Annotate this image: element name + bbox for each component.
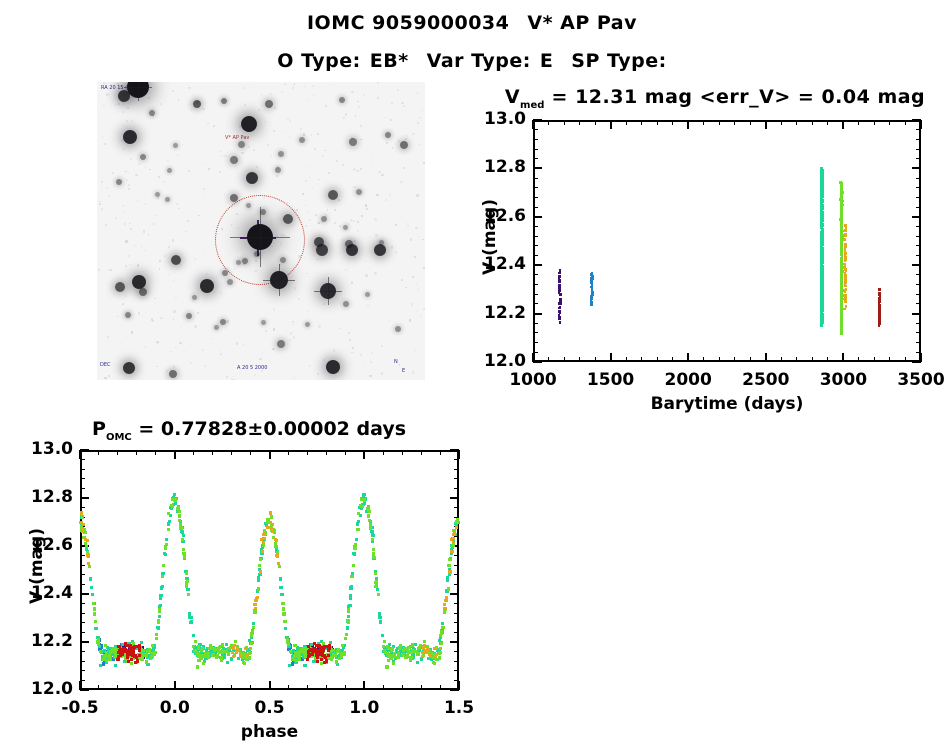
field-star — [241, 116, 257, 132]
field-star — [374, 244, 386, 256]
data-point — [323, 661, 326, 664]
field-noise — [175, 347, 176, 348]
field-star — [346, 244, 358, 256]
data-point — [416, 661, 419, 664]
field-star — [192, 295, 197, 300]
field-noise — [309, 166, 311, 168]
field-noise — [206, 273, 207, 274]
field-noise — [416, 283, 417, 284]
data-point — [591, 272, 594, 275]
data-point — [820, 256, 823, 259]
data-point — [99, 650, 102, 653]
finder-label-north: N — [394, 360, 398, 365]
data-point — [85, 545, 88, 548]
period-value-text: = 0.77828±0.00002 days — [138, 418, 406, 440]
field-noise — [109, 269, 111, 271]
field-noise — [101, 185, 102, 186]
data-point — [433, 647, 436, 650]
data-point — [164, 546, 167, 549]
data-point — [559, 269, 562, 272]
y-tick-major-right — [450, 689, 459, 691]
field-noise — [125, 265, 127, 267]
x-tick-minor — [827, 357, 828, 362]
y-tick-major — [80, 593, 89, 595]
field-noise — [202, 163, 203, 164]
data-point — [367, 514, 370, 517]
data-point — [239, 653, 242, 656]
y-tick-major — [533, 361, 542, 363]
field-star — [115, 282, 125, 292]
data-point — [289, 650, 292, 653]
data-point — [840, 270, 843, 273]
field-noise — [177, 154, 179, 156]
data-point — [283, 620, 286, 623]
field-star — [123, 362, 135, 374]
field-noise — [231, 379, 233, 380]
data-point — [840, 260, 843, 263]
y-tick-minor — [80, 574, 85, 575]
data-point — [443, 603, 446, 606]
x-tick-minor-top — [672, 120, 673, 125]
x-tick-minor — [288, 685, 289, 690]
data-point — [282, 607, 285, 610]
y-axis-title: V (mag) — [480, 199, 500, 275]
field-noise — [117, 316, 119, 318]
field-noise — [318, 222, 320, 224]
field-noise — [192, 300, 195, 303]
field-noise — [389, 194, 391, 196]
data-point — [357, 512, 360, 515]
x-tick-minor-top — [703, 120, 704, 125]
data-point — [844, 245, 847, 248]
field-noise — [127, 107, 129, 109]
field-noise — [347, 223, 350, 226]
field-noise — [157, 197, 159, 199]
data-point — [411, 643, 414, 646]
field-noise — [411, 178, 412, 179]
data-point — [878, 317, 881, 320]
field-noise — [412, 133, 415, 136]
data-point — [821, 273, 824, 276]
field-noise — [370, 361, 372, 363]
field-star — [242, 258, 248, 264]
data-point — [840, 227, 843, 230]
y-tick-major-right — [912, 119, 921, 121]
data-point — [840, 328, 843, 331]
x-tick-major-top — [610, 120, 612, 129]
y-tick-minor-right — [916, 197, 921, 198]
data-point — [336, 650, 339, 653]
data-point — [187, 588, 190, 591]
field-noise — [289, 136, 290, 137]
field-noise — [406, 222, 407, 223]
data-point — [559, 321, 562, 324]
field-noise — [300, 128, 302, 130]
field-star — [149, 110, 155, 116]
x-tick-label: 0.0 — [160, 698, 190, 718]
field-noise — [131, 120, 133, 122]
data-point — [258, 564, 261, 567]
vmed-text: = 12.31 mag <err_V> = 0.04 mag — [552, 86, 926, 108]
data-point — [320, 649, 323, 652]
field-noise — [128, 255, 130, 257]
field-noise — [157, 342, 158, 343]
data-point — [313, 650, 316, 653]
field-noise — [142, 316, 143, 317]
field-noise — [324, 189, 325, 190]
data-point — [590, 300, 593, 303]
data-point — [820, 294, 823, 297]
field-noise — [203, 188, 205, 190]
data-point — [446, 579, 449, 582]
data-point — [207, 652, 210, 655]
field-noise — [170, 351, 172, 353]
data-point — [360, 498, 363, 501]
data-point — [841, 206, 844, 209]
field-star — [132, 275, 146, 289]
field-noise — [286, 331, 287, 332]
field-noise — [236, 342, 238, 344]
var-type-value: E — [540, 50, 553, 72]
data-point — [293, 654, 296, 657]
y-tick-minor — [533, 245, 538, 246]
field-noise — [365, 261, 366, 262]
data-point — [178, 514, 181, 517]
field-noise — [360, 168, 362, 170]
data-point — [302, 647, 305, 650]
data-point — [318, 644, 321, 647]
field-noise — [298, 298, 300, 300]
data-point — [441, 626, 444, 629]
field-star — [221, 98, 227, 104]
field-star — [305, 322, 310, 327]
data-point — [350, 575, 353, 578]
field-noise — [98, 269, 100, 271]
data-point — [369, 523, 372, 526]
field-noise — [154, 298, 156, 300]
data-point — [821, 323, 824, 326]
y-tick-major — [80, 641, 89, 643]
finder-label-bottom-left: DEC — [100, 363, 111, 368]
y-tick-minor-right — [916, 178, 921, 179]
x-tick-minor-top — [383, 450, 384, 455]
field-noise — [105, 224, 107, 226]
data-point — [88, 565, 91, 568]
field-star — [365, 292, 370, 297]
y-tick-minor-right — [454, 459, 459, 460]
x-tick-minor-top — [155, 450, 156, 455]
data-point — [298, 650, 301, 653]
data-point — [220, 659, 223, 662]
data-point — [179, 523, 182, 526]
field-noise — [417, 122, 419, 124]
data-point — [97, 643, 100, 646]
y-tick-label: 13.0 — [31, 439, 73, 459]
data-point — [280, 593, 283, 596]
field-noise — [416, 194, 418, 196]
x-tick-label: 0.5 — [254, 698, 284, 718]
x-tick-minor-top — [345, 450, 346, 455]
field-noise — [333, 84, 335, 86]
field-noise — [343, 117, 344, 118]
data-point — [347, 620, 350, 623]
data-point — [225, 650, 228, 653]
x-tick-minor — [905, 357, 906, 362]
field-noise — [391, 246, 394, 249]
data-point — [409, 659, 412, 662]
star-diffraction-spike — [328, 277, 329, 305]
data-point — [128, 644, 131, 647]
data-point — [167, 528, 170, 531]
field-star — [118, 90, 130, 102]
field-noise — [308, 99, 310, 101]
x-tick-minor-top — [117, 450, 118, 455]
data-point — [329, 641, 332, 644]
field-star — [400, 141, 408, 149]
data-point — [182, 534, 185, 537]
field-noise — [204, 365, 206, 367]
data-point — [134, 661, 137, 664]
field-noise — [326, 274, 327, 275]
field-noise — [317, 259, 318, 260]
field-noise — [233, 376, 234, 377]
data-point — [844, 276, 847, 279]
y-tick-minor — [80, 613, 85, 614]
field-noise — [134, 245, 136, 247]
data-point — [821, 296, 824, 299]
field-noise — [418, 117, 421, 120]
x-tick-major — [269, 681, 271, 690]
data-point — [262, 541, 265, 544]
field-noise — [322, 155, 324, 157]
time-plot-frame — [533, 120, 921, 362]
field-noise — [423, 267, 425, 269]
data-point — [84, 538, 87, 541]
data-point — [284, 627, 287, 630]
data-point — [252, 622, 255, 625]
data-point — [414, 643, 417, 646]
field-noise — [412, 371, 414, 373]
data-point — [820, 220, 823, 223]
y-tick-major-right — [450, 497, 459, 499]
data-point — [261, 550, 264, 553]
data-point — [281, 602, 284, 605]
data-point — [323, 645, 326, 648]
field-star — [349, 138, 357, 146]
x-tick-minor — [641, 357, 642, 362]
data-point — [349, 597, 352, 600]
field-noise — [237, 227, 239, 229]
field-noise — [172, 90, 174, 92]
field-noise — [356, 87, 358, 89]
field-noise — [348, 332, 349, 333]
y-tick-minor — [533, 158, 538, 159]
data-point — [259, 558, 262, 561]
data-point — [341, 644, 344, 647]
data-point — [821, 308, 824, 311]
data-point — [558, 284, 561, 287]
data-point — [415, 650, 418, 653]
field-noise — [194, 325, 197, 328]
field-noise — [216, 276, 217, 277]
data-point — [257, 579, 260, 582]
y-tick-minor — [533, 284, 538, 285]
data-point — [234, 640, 237, 643]
field-noise — [272, 348, 274, 350]
field-star — [343, 301, 349, 307]
data-point — [844, 243, 847, 246]
field-noise — [374, 272, 376, 274]
data-point — [180, 526, 183, 529]
field-noise — [208, 168, 209, 169]
field-noise — [391, 102, 393, 104]
field-noise — [173, 366, 175, 368]
x-tick-minor-top — [326, 450, 327, 455]
data-point — [146, 650, 149, 653]
field-noise — [411, 303, 413, 305]
x-tick-minor — [734, 357, 735, 362]
x-tick-label: 1.5 — [444, 698, 474, 718]
field-noise — [422, 239, 423, 240]
object-type-line: O Type:EB*Var Type:ESP Type: — [0, 52, 944, 71]
data-point — [421, 655, 424, 658]
field-noise — [194, 258, 195, 259]
field-noise — [373, 337, 374, 338]
data-point — [252, 626, 255, 629]
x-tick-minor-top — [858, 120, 859, 125]
x-tick-minor — [402, 685, 403, 690]
data-point — [386, 645, 389, 648]
field-noise — [415, 349, 417, 351]
field-noise — [213, 125, 215, 127]
data-point — [821, 188, 824, 191]
field-star — [385, 132, 391, 138]
x-tick-minor — [672, 357, 673, 362]
data-point — [253, 610, 256, 613]
data-point — [338, 657, 341, 660]
y-tick-minor-right — [916, 294, 921, 295]
field-noise — [328, 172, 330, 174]
data-point — [428, 653, 431, 656]
field-noise — [143, 230, 145, 232]
data-point — [840, 183, 843, 186]
data-point — [124, 650, 127, 653]
field-noise — [294, 377, 295, 378]
data-point — [104, 644, 107, 647]
y-tick-minor — [533, 274, 538, 275]
y-tick-minor — [533, 187, 538, 188]
y-tick-minor — [533, 352, 538, 353]
field-noise — [365, 204, 367, 206]
field-noise — [135, 174, 137, 176]
y-tick-minor-right — [916, 352, 921, 353]
field-noise — [125, 171, 126, 172]
data-point — [116, 658, 119, 661]
field-star — [173, 143, 178, 148]
field-noise — [312, 187, 313, 188]
field-noise — [336, 160, 338, 162]
field-noise — [328, 244, 329, 245]
data-point — [340, 652, 343, 655]
field-noise — [415, 227, 417, 229]
field-noise — [226, 376, 228, 378]
data-point — [159, 597, 162, 600]
x-tick-minor-top — [827, 120, 828, 125]
data-point — [840, 197, 843, 200]
data-point — [376, 588, 379, 591]
data-point — [99, 664, 102, 667]
data-point — [821, 179, 824, 182]
field-noise — [342, 164, 344, 166]
y-tick-minor — [80, 459, 85, 460]
y-tick-label: 12.2 — [484, 303, 526, 323]
field-noise — [181, 326, 182, 327]
x-tick-minor-top — [421, 450, 422, 455]
field-noise — [108, 94, 110, 96]
field-noise — [185, 231, 187, 233]
field-star — [326, 360, 340, 374]
data-point — [455, 526, 458, 529]
y-tick-major — [533, 313, 542, 315]
field-star — [321, 216, 327, 222]
field-noise — [353, 220, 355, 222]
x-tick-minor-top — [440, 450, 441, 455]
data-point — [434, 655, 437, 658]
data-point — [270, 527, 273, 530]
field-noise — [318, 325, 320, 327]
field-star — [299, 137, 305, 143]
y-tick-minor-right — [916, 149, 921, 150]
data-point — [225, 643, 228, 646]
field-noise — [220, 151, 222, 153]
data-point — [420, 657, 423, 660]
field-noise — [145, 203, 146, 204]
data-point — [820, 320, 823, 323]
field-star — [227, 279, 233, 285]
field-noise — [385, 117, 386, 118]
data-point — [559, 298, 562, 301]
field-noise — [414, 250, 415, 251]
data-point — [559, 302, 562, 305]
y-tick-minor — [80, 622, 85, 623]
data-point — [277, 562, 280, 565]
field-star — [171, 255, 181, 265]
x-tick-minor — [812, 357, 813, 362]
data-point — [215, 656, 218, 659]
field-noise — [359, 329, 360, 330]
data-point — [820, 245, 823, 248]
data-point — [187, 593, 190, 596]
x-tick-minor — [703, 357, 704, 362]
field-star — [200, 279, 214, 293]
field-noise — [354, 240, 356, 242]
field-noise — [128, 173, 129, 174]
x-tick-minor — [796, 357, 797, 362]
data-point — [356, 528, 359, 531]
x-tick-minor-top — [193, 450, 194, 455]
y-tick-minor — [533, 255, 538, 256]
field-noise — [220, 292, 222, 294]
y-tick-minor — [533, 294, 538, 295]
data-point — [271, 530, 274, 533]
x-tick-major — [687, 353, 689, 362]
x-tick-minor — [326, 685, 327, 690]
data-point — [167, 522, 170, 525]
data-point — [114, 664, 117, 667]
field-noise — [124, 223, 126, 225]
o-type-value: EB* — [370, 50, 409, 72]
data-point — [840, 317, 843, 320]
